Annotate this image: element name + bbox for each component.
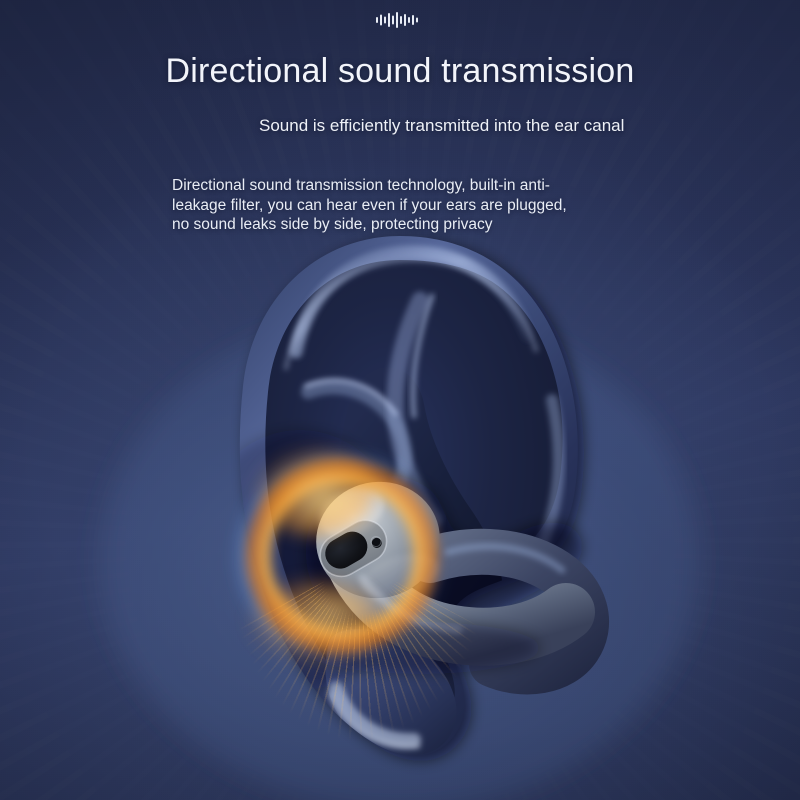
subtitle-text: Sound is efficiently transmitted into th… xyxy=(259,115,624,136)
product-feature-poster: Directional sound transmission Sound is … xyxy=(0,0,800,800)
body-description: Directional sound transmission technolog… xyxy=(172,176,567,235)
sound-wave-icon xyxy=(0,9,800,36)
page-title: Directional sound transmission xyxy=(0,52,800,91)
